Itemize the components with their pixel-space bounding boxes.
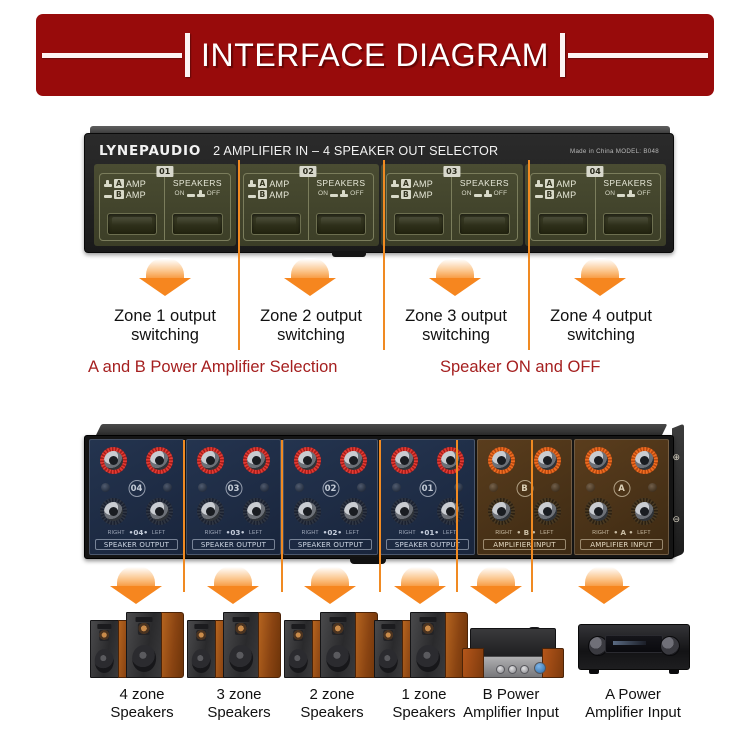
- amp-b-row-01: B AMP: [104, 189, 160, 200]
- switch-on-glyph-icon: [474, 190, 482, 197]
- arrow-head: [574, 278, 626, 296]
- device-arrow-speakers-2: [298, 566, 362, 606]
- amp-a-letter-01: A: [114, 179, 124, 188]
- speaker-woofer: [326, 645, 350, 672]
- zone-badge-04: 04: [587, 166, 604, 177]
- speaker-wood-cabinet: [258, 612, 281, 678]
- switch-down-glyph-icon: [535, 191, 543, 198]
- speakers-on-label-04: ON: [605, 190, 615, 197]
- speakers-off-label-02: OFF: [350, 190, 364, 197]
- speaker-tweeter: [332, 623, 344, 635]
- amp-a-row-01: A AMP: [104, 178, 160, 189]
- speakers-onoff-row-03: ON OFF: [456, 190, 512, 197]
- av-receiver: [578, 624, 690, 670]
- receiver-foot-left: [589, 670, 599, 674]
- speaker-woofer: [95, 649, 114, 673]
- switch-down-glyph-icon: [248, 191, 256, 198]
- speaker-front-baffle: [374, 620, 403, 678]
- tube-amplifier-image-b: [462, 616, 564, 678]
- left-label-02: LEFT: [346, 530, 359, 536]
- device-arrow-speakers-3: [201, 566, 265, 606]
- banner-bracket-left: [185, 33, 190, 77]
- zone-inner-02: A AMP B AMP SPEAKERS: [243, 173, 375, 241]
- panel-badge-01: 01: [419, 480, 436, 497]
- binding-post-black-right-03[interactable]: [197, 498, 224, 525]
- binding-post-orange-left-b[interactable]: [534, 447, 561, 474]
- switch-on-glyph-icon: [617, 190, 625, 197]
- zone-caption-1-line2: switching: [92, 326, 238, 345]
- post-hole: [109, 456, 118, 465]
- speaker-pair-image-3: [185, 612, 293, 678]
- receiver-display-text: [613, 641, 646, 645]
- binding-post-black-right-a[interactable]: [585, 498, 612, 525]
- speakers-onoff-row-02: ON OFF: [313, 190, 369, 197]
- speaker-woofer: [289, 649, 308, 673]
- amplifier-input-panel-a: A RIGHT • A •: [574, 439, 669, 555]
- binding-post-black-right-02[interactable]: [294, 498, 321, 525]
- post-row-top-a: [575, 447, 668, 474]
- speaker-port: [292, 624, 305, 628]
- amp-b-letter-01: B: [114, 190, 124, 199]
- binding-post-black-left-01[interactable]: [437, 498, 464, 525]
- panel-screw-right: [260, 483, 269, 492]
- post-row-bottom-a: [575, 498, 668, 525]
- zone-panel-03: 03 A AMP B AMP: [381, 164, 523, 246]
- zone-badge-02: 02: [300, 166, 317, 177]
- front-titlebar: LYNEPAUDIO 2 AMPLIFIER IN – 4 SPEAKER OU…: [85, 140, 673, 162]
- tube-amplifier: [462, 616, 564, 678]
- arrow-head: [284, 278, 336, 296]
- brand-logo: LYNEPAUDIO: [99, 143, 201, 159]
- amp-b-row-03: B AMP: [391, 189, 447, 200]
- speaker-pair: [185, 612, 293, 678]
- panel-number-a: • A •: [613, 528, 633, 537]
- arrow-head: [429, 278, 481, 296]
- binding-post-orange-left-a[interactable]: [631, 447, 658, 474]
- post-hole: [497, 507, 506, 516]
- zone-switch-row: 01 A AMP B AMP: [93, 164, 667, 246]
- speaker-port: [98, 624, 111, 628]
- panel-screw-left: [586, 483, 595, 492]
- speakers-off-label-01: OFF: [207, 190, 221, 197]
- speaker-port: [329, 617, 346, 622]
- bottom-caption-b-power-amplifier-input: B Power Amplifier Input: [451, 686, 571, 722]
- front-chassis: LYNEPAUDIO 2 AMPLIFIER IN – 4 SPEAKER OU…: [84, 133, 674, 253]
- amp-a-letter-03: A: [401, 179, 411, 188]
- zone-caption-4: Zone 4 output switching: [528, 307, 674, 345]
- bottom-caption-line2: Amplifier Input: [451, 704, 571, 722]
- speaker-front-baffle: [187, 620, 216, 678]
- right-label-04: RIGHT: [108, 530, 125, 536]
- speaker-tweeter: [293, 630, 303, 641]
- amp-select-rocker-switch-03[interactable]: [394, 213, 444, 235]
- device-arrow-amp-b: [464, 566, 528, 606]
- zone-caption-2: Zone 2 output switching: [238, 307, 384, 345]
- post-row-bottom-04: [90, 498, 183, 525]
- zone-caption-2-line2: switching: [238, 326, 384, 345]
- binding-post-black-right-04[interactable]: [100, 498, 127, 525]
- speaker-tweeter: [138, 623, 150, 635]
- post-hole: [400, 456, 409, 465]
- amp-a-label-01: AMP: [126, 179, 146, 189]
- left-label-04: LEFT: [152, 530, 165, 536]
- switch-off-glyph-icon: [340, 190, 348, 197]
- binding-post-red-right-02[interactable]: [294, 447, 321, 474]
- panel-badge-04: 04: [128, 480, 145, 497]
- panel-label-a: AMPLIFIER INPUT: [580, 539, 663, 550]
- switch-off-glyph-icon: [197, 190, 205, 197]
- speaker-unit-right: [320, 612, 378, 678]
- speaker-output-panel-01: 01 RIGHT •01•: [380, 439, 475, 555]
- amp-b-row-02: B AMP: [248, 189, 304, 200]
- speaker-port: [419, 617, 436, 622]
- binding-post-orange-right-b[interactable]: [488, 447, 515, 474]
- switch-off-glyph-icon: [484, 190, 492, 197]
- banner-inner: INTERFACE DIAGRAM: [36, 33, 714, 77]
- binding-post-red-left-04[interactable]: [146, 447, 173, 474]
- panel-screw-right: [551, 483, 560, 492]
- post-hole: [109, 507, 118, 516]
- speaker-port: [232, 617, 249, 622]
- post-hole: [594, 507, 603, 516]
- binding-post-black-left-02[interactable]: [340, 498, 367, 525]
- panel-badge-02: 02: [322, 480, 339, 497]
- right-label-b: RIGHT: [495, 530, 512, 536]
- arrow-head: [207, 586, 259, 604]
- zone-caption-3: Zone 3 output switching: [383, 307, 529, 345]
- speaker-port: [195, 624, 208, 628]
- amp-a-letter-04: A: [545, 179, 555, 188]
- speaker-front-baffle: [410, 612, 446, 678]
- speakers-section-02: SPEAKERS ON OFF: [308, 174, 373, 240]
- banner-bracket-right: [560, 33, 565, 77]
- speakers-onoff-row-01: ON OFF: [169, 190, 225, 197]
- panel-number-04: •04•: [129, 528, 148, 537]
- amp-select-section-04: A AMP B AMP: [531, 174, 595, 240]
- page-title: INTERFACE DIAGRAM: [193, 37, 557, 74]
- speakers-onoff-row-04: ON OFF: [600, 190, 656, 197]
- binding-post-black-left-a[interactable]: [631, 498, 658, 525]
- rear-divider-line-3: [379, 440, 381, 592]
- panel-screw-left: [392, 483, 401, 492]
- device-arrow-speakers-1: [388, 566, 452, 606]
- binding-post-red-left-01[interactable]: [437, 447, 464, 474]
- panel-label-03: SPEAKER OUTPUT: [192, 539, 275, 550]
- panel-badge-a: A: [613, 480, 630, 497]
- arrow-head: [578, 586, 630, 604]
- speaker-front-baffle: [126, 612, 162, 678]
- amp-select-rocker-switch-04[interactable]: [538, 213, 588, 235]
- post-row-bottom-02: [284, 498, 377, 525]
- amp-a-label-04: AMP: [556, 179, 576, 189]
- binding-post-red-right-01[interactable]: [391, 447, 418, 474]
- amp-b-letter-02: B: [258, 190, 268, 199]
- binding-post-red-left-03[interactable]: [243, 447, 270, 474]
- amp-a-label-02: AMP: [269, 179, 289, 189]
- amplifier-wood-side-right: [542, 648, 564, 678]
- lr-line-03: RIGHT •03• LEFT: [187, 528, 280, 537]
- lr-line-b: RIGHT • B • LEFT: [478, 528, 571, 537]
- zone-caption-2-line1: Zone 2 output: [238, 307, 384, 326]
- binding-post-black-right-b[interactable]: [488, 498, 515, 525]
- receiver-chassis: [578, 624, 690, 670]
- zone-caption-3-line1: Zone 3 output: [383, 307, 529, 326]
- speakers-section-03: SPEAKERS ON OFF: [451, 174, 516, 240]
- speaker-woofer: [229, 645, 253, 672]
- switch-up-glyph-icon: [535, 180, 543, 187]
- arrow-head: [110, 586, 162, 604]
- amp-select-section-01: A AMP B AMP: [100, 174, 164, 240]
- speakers-label-04: SPEAKERS: [600, 178, 656, 188]
- speakers-rocker-switch-02[interactable]: [316, 213, 366, 235]
- amp-b-label-03: AMP: [413, 190, 433, 200]
- lr-line-04: RIGHT •04• LEFT: [90, 528, 183, 537]
- zone-caption-3-line2: switching: [383, 326, 529, 345]
- panel-badge-03: 03: [225, 480, 242, 497]
- panel-screw-right: [357, 483, 366, 492]
- post-hole: [400, 507, 409, 516]
- lr-line-01: RIGHT •01• LEFT: [381, 528, 474, 537]
- rear-divider-line-1: [183, 440, 185, 592]
- zone-panel-01: 01 A AMP B AMP: [94, 164, 236, 246]
- speaker-output-panel-04: 04 RIGHT •04•: [89, 439, 184, 555]
- zone-inner-01: A AMP B AMP SPEAKERS: [99, 173, 231, 241]
- zone-caption-4-line2: switching: [528, 326, 674, 345]
- binding-post-black-right-01[interactable]: [391, 498, 418, 525]
- post-hole: [206, 456, 215, 465]
- post-row-bottom-03: [187, 498, 280, 525]
- left-label-b: LEFT: [540, 530, 553, 536]
- post-hole: [303, 507, 312, 516]
- banner-rule-left: [42, 53, 182, 58]
- amplifier-knob[interactable]: [496, 665, 505, 674]
- zone-caption-1: Zone 1 output switching: [92, 307, 238, 345]
- speaker-woofer: [379, 649, 398, 673]
- panel-screw-left: [101, 483, 110, 492]
- post-row-bottom-01: [381, 498, 474, 525]
- post-hole: [594, 456, 603, 465]
- speaker-output-panel-03: 03 RIGHT •03•: [186, 439, 281, 555]
- amp-b-label-02: AMP: [269, 190, 289, 200]
- speaker-unit-right: [223, 612, 281, 678]
- speaker-front-baffle: [90, 620, 119, 678]
- arrow-head: [139, 278, 191, 296]
- amplifier-knob[interactable]: [508, 665, 517, 674]
- speaker-wood-cabinet: [161, 612, 184, 678]
- arrow-head: [470, 586, 522, 604]
- zone-arrow-1: [133, 258, 197, 298]
- switch-on-glyph-icon: [187, 190, 195, 197]
- speaker-front-baffle: [284, 620, 313, 678]
- speaker-tweeter: [422, 623, 434, 635]
- amp-b-letter-04: B: [545, 190, 555, 199]
- zone-arrow-4: [568, 258, 632, 298]
- speaker-front-baffle: [320, 612, 356, 678]
- speaker-unit-right: [126, 612, 184, 678]
- speakers-on-label-03: ON: [461, 190, 471, 197]
- amp-select-rocker-switch-01[interactable]: [107, 213, 157, 235]
- bottom-caption-a-power-amplifier-input: A Power Amplifier Input: [573, 686, 693, 722]
- binding-post-orange-right-a[interactable]: [585, 447, 612, 474]
- zone-arrow-2: [278, 258, 342, 298]
- speakers-on-label-01: ON: [174, 190, 184, 197]
- speakers-section-04: SPEAKERS ON OFF: [595, 174, 660, 240]
- speaker-unit-right: [410, 612, 468, 678]
- speaker-woofer: [416, 645, 440, 672]
- speaker-pair: [88, 612, 196, 678]
- rear-divider-line-5: [531, 440, 533, 592]
- speaker-woofer: [192, 649, 211, 673]
- device-origin-model: Made in China MODEL: B048: [570, 148, 659, 155]
- speakers-rocker-switch-01[interactable]: [172, 213, 222, 235]
- speaker-output-panel-02: 02 RIGHT •02•: [283, 439, 378, 555]
- receiver-knob-right[interactable]: [660, 636, 680, 656]
- polarity-minus-icon: ⊖: [672, 514, 680, 525]
- amp-a-row-02: A AMP: [248, 178, 304, 189]
- binding-post-black-left-03[interactable]: [243, 498, 270, 525]
- speaker-port: [382, 624, 395, 628]
- switch-up-glyph-icon: [248, 180, 256, 187]
- amp-b-label-04: AMP: [556, 190, 576, 200]
- amp-a-label-03: AMP: [413, 179, 433, 189]
- amplifier-knob[interactable]: [520, 665, 529, 674]
- speaker-tweeter: [196, 630, 206, 641]
- device-model-title: 2 AMPLIFIER IN – 4 SPEAKER OUT SELECTOR: [213, 144, 498, 158]
- amplifier-volume-knob[interactable]: [534, 662, 546, 674]
- switch-on-glyph-icon: [330, 190, 338, 197]
- binding-post-red-right-03[interactable]: [197, 447, 224, 474]
- rear-divider-line-2: [281, 440, 283, 592]
- right-label-02: RIGHT: [302, 530, 319, 536]
- amp-a-row-04: A AMP: [535, 178, 591, 189]
- right-label-a: RIGHT: [592, 530, 609, 536]
- rear-divider-line-4: [456, 440, 458, 592]
- speaker-tweeter: [383, 630, 393, 641]
- speakers-rocker-switch-03[interactable]: [459, 213, 509, 235]
- bottom-caption-line2: Amplifier Input: [573, 704, 693, 722]
- post-row-top-03: [187, 447, 280, 474]
- receiver-display: [605, 635, 662, 653]
- bottom-caption-line1: A Power: [573, 686, 693, 704]
- amp-b-label-01: AMP: [126, 190, 146, 200]
- binding-post-red-left-02[interactable]: [340, 447, 367, 474]
- binding-post-black-left-b[interactable]: [534, 498, 561, 525]
- speakers-label-02: SPEAKERS: [313, 178, 369, 188]
- switch-off-glyph-icon: [627, 190, 635, 197]
- amplifier-input-panel-b: B RIGHT • B •: [477, 439, 572, 555]
- zone-badge-01: 01: [156, 166, 173, 177]
- speaker-woofer: [132, 645, 156, 672]
- post-row-bottom-b: [478, 498, 571, 525]
- speakers-section-01: SPEAKERS ON OFF: [164, 174, 229, 240]
- zone-caption-4-line1: Zone 4 output: [528, 307, 674, 326]
- post-hole: [303, 456, 312, 465]
- interface-diagram-page: INTERFACE DIAGRAM LYNEPAUDIO 2 AMPLIFIER…: [0, 0, 750, 750]
- right-label-03: RIGHT: [205, 530, 222, 536]
- panel-number-03: •03•: [226, 528, 245, 537]
- zone-caption-1-line1: Zone 1 output: [92, 307, 238, 326]
- amp-select-section-03: A AMP B AMP: [387, 174, 451, 240]
- zone-inner-04: A AMP B AMP SPEAKERS: [530, 173, 662, 241]
- speaker-front-baffle: [223, 612, 259, 678]
- speaker-pair-image-4: [88, 612, 196, 678]
- amplifier-wood-side-left: [462, 648, 484, 678]
- speakers-label-01: SPEAKERS: [169, 178, 225, 188]
- amp-select-section-02: A AMP B AMP: [244, 174, 308, 240]
- device-arrow-speakers-4: [104, 566, 168, 606]
- post-row-top-04: [90, 447, 183, 474]
- arrow-head: [304, 586, 356, 604]
- zone-badge-03: 03: [443, 166, 460, 177]
- panel-screw-right: [163, 483, 172, 492]
- speakers-off-label-04: OFF: [637, 190, 651, 197]
- amp-select-rocker-switch-02[interactable]: [251, 213, 301, 235]
- lr-line-a: RIGHT • A • LEFT: [575, 528, 668, 537]
- zone-inner-03: A AMP B AMP SPEAKERS: [386, 173, 518, 241]
- left-label-a: LEFT: [637, 530, 650, 536]
- av-receiver-image-a: [578, 624, 690, 670]
- red-caption-amp-selection: A and B Power Amplifier Selection: [88, 358, 337, 377]
- post-row-top-01: [381, 447, 474, 474]
- amp-b-letter-03: B: [401, 190, 411, 199]
- switch-up-glyph-icon: [104, 180, 112, 187]
- switch-down-glyph-icon: [104, 191, 112, 198]
- speakers-rocker-switch-04[interactable]: [603, 213, 653, 235]
- post-hole: [206, 507, 215, 516]
- speaker-tweeter: [235, 623, 247, 635]
- front-panel-device: LYNEPAUDIO 2 AMPLIFIER IN – 4 SPEAKER OU…: [84, 126, 674, 260]
- panel-label-b: AMPLIFIER INPUT: [483, 539, 566, 550]
- binding-post-red-right-04[interactable]: [100, 447, 127, 474]
- polarity-plus-icon: ⊕: [672, 452, 680, 463]
- zone-panel-04: 04 A AMP B AMP: [525, 164, 667, 246]
- post-row-top-b: [478, 447, 571, 474]
- panel-screw-left: [295, 483, 304, 492]
- header-banner: INTERFACE DIAGRAM: [36, 14, 714, 96]
- panel-label-02: SPEAKER OUTPUT: [289, 539, 372, 550]
- arrow-head: [394, 586, 446, 604]
- panel-number-01: •01•: [420, 528, 439, 537]
- speaker-tweeter: [99, 630, 109, 641]
- amp-a-letter-02: A: [258, 179, 268, 188]
- red-caption-speaker-onoff: Speaker ON and OFF: [440, 358, 600, 377]
- switch-up-glyph-icon: [391, 180, 399, 187]
- speakers-on-label-02: ON: [318, 190, 328, 197]
- binding-post-black-left-04[interactable]: [146, 498, 173, 525]
- panel-screw-left: [198, 483, 207, 492]
- front-chassis-foot: [332, 251, 366, 257]
- right-label-01: RIGHT: [399, 530, 416, 536]
- amp-a-row-03: A AMP: [391, 178, 447, 189]
- banner-rule-right: [568, 53, 708, 58]
- zone-arrow-3: [423, 258, 487, 298]
- speaker-port: [135, 617, 152, 622]
- panel-label-04: SPEAKER OUTPUT: [95, 539, 178, 550]
- lr-line-02: RIGHT •02• LEFT: [284, 528, 377, 537]
- speakers-label-03: SPEAKERS: [456, 178, 512, 188]
- left-label-03: LEFT: [249, 530, 262, 536]
- panel-screw-left: [489, 483, 498, 492]
- panel-number-b: • B •: [516, 528, 536, 537]
- switch-down-glyph-icon: [391, 191, 399, 198]
- post-row-top-02: [284, 447, 377, 474]
- receiver-foot-right: [669, 670, 679, 674]
- zone-panel-02: 02 A AMP B AMP: [238, 164, 380, 246]
- panel-number-02: •02•: [323, 528, 342, 537]
- left-label-01: LEFT: [443, 530, 456, 536]
- speakers-off-label-03: OFF: [494, 190, 508, 197]
- device-arrow-amp-a: [572, 566, 636, 606]
